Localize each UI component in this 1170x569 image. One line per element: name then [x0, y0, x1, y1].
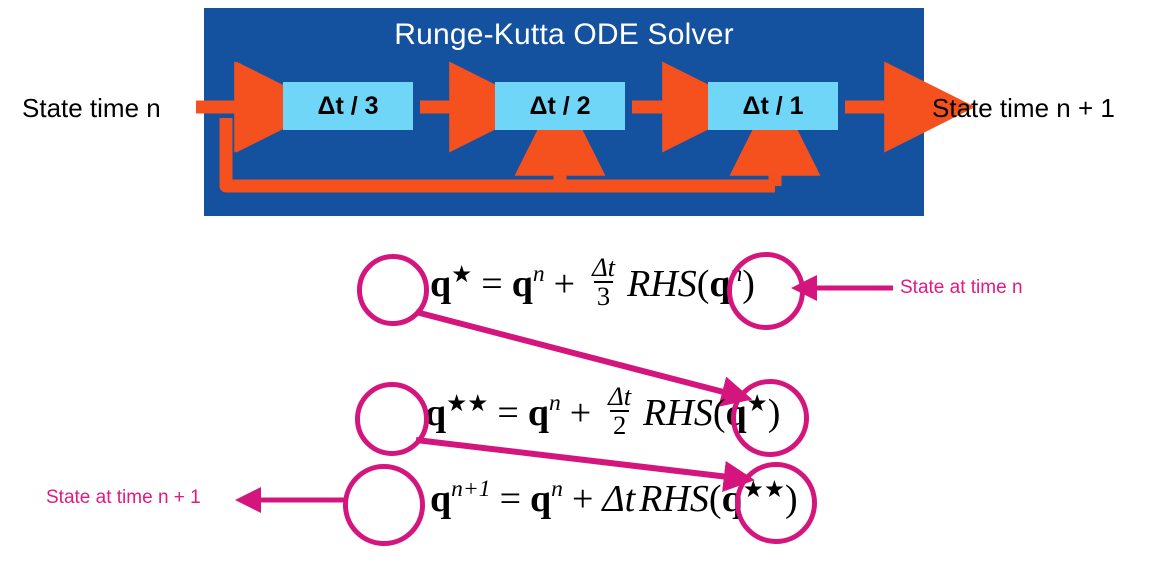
link-arrow-qstar: [416, 312, 735, 395]
page-title: Runge-Kutta ODE Solver: [204, 18, 924, 52]
equation-row-1: q★ = qn + Δt 3 RHS (qn): [430, 256, 755, 312]
stage-box-dt-2[interactable]: Δt / 2: [495, 82, 625, 130]
stage-box-dt-3[interactable]: Δt / 3: [283, 82, 413, 130]
equation-lhs-symbol: q: [430, 477, 451, 521]
fraction-dt-over-3: Δt 3: [589, 254, 618, 310]
circle-highlight-q-star: [357, 254, 429, 326]
plus-sign: +: [570, 391, 591, 435]
circle-highlight-q-n-plus-1: [343, 464, 425, 546]
stage-box-dt-1[interactable]: Δt / 1: [708, 82, 838, 130]
equation-term-superscript: n: [551, 476, 563, 503]
plus-sign: +: [572, 477, 593, 521]
open-paren: (: [713, 391, 726, 435]
equation-term-superscript: n: [549, 390, 561, 417]
circle-highlight-q-star-star: [355, 382, 429, 456]
link-arrow-qstarstar: [416, 440, 737, 478]
output-state-label: State time n + 1: [932, 93, 1115, 124]
fraction-dt-over-2: Δt 2: [605, 383, 634, 439]
delta-t-symbol: Δt: [602, 477, 635, 521]
equation-lhs-superscript: n+1: [451, 476, 490, 503]
stage-box-label: Δt / 2: [529, 92, 590, 121]
equation-term-superscript: n: [533, 261, 545, 288]
equals-sign: =: [497, 391, 518, 435]
rhs-operator-label: RHS: [639, 477, 709, 521]
circle-highlight-q-n-row1: [727, 252, 805, 330]
circle-highlight-q-star-star-row3: [735, 462, 817, 544]
plus-sign: +: [554, 262, 575, 306]
equation-term-q: q: [512, 262, 533, 306]
stage-box-label: Δt / 1: [742, 92, 803, 121]
equation-lhs-symbol: q: [430, 262, 451, 306]
open-paren: (: [709, 477, 722, 521]
diagram-canvas: Runge-Kutta ODE Solver: [0, 0, 1170, 569]
circle-highlight-q-star-row2: [731, 379, 809, 457]
equals-sign: =: [481, 262, 502, 306]
input-state-label: State time n: [22, 93, 161, 124]
equation-row-2: q★★ = qn + Δt 2 RHS (q★): [425, 385, 780, 441]
equation-term-q: q: [530, 477, 551, 521]
rhs-operator-label: RHS: [643, 391, 713, 435]
note-state-at-time-n: State at time n: [900, 277, 1023, 299]
fraction-denominator: 3: [594, 281, 613, 310]
fraction-numerator: Δt: [589, 254, 618, 281]
equation-lhs-superscript: ★★: [446, 389, 488, 418]
fraction-denominator: 2: [610, 410, 629, 439]
equation-lhs-superscript: ★: [451, 260, 472, 289]
rhs-operator-label: RHS: [627, 262, 697, 306]
equals-sign: =: [500, 477, 521, 521]
note-state-at-time-n-plus-1: State at time n + 1: [46, 487, 201, 509]
stage-box-label: Δt / 3: [317, 92, 378, 121]
fraction-numerator: Δt: [605, 383, 634, 410]
equation-term-q: q: [528, 391, 549, 435]
open-paren: (: [697, 262, 710, 306]
